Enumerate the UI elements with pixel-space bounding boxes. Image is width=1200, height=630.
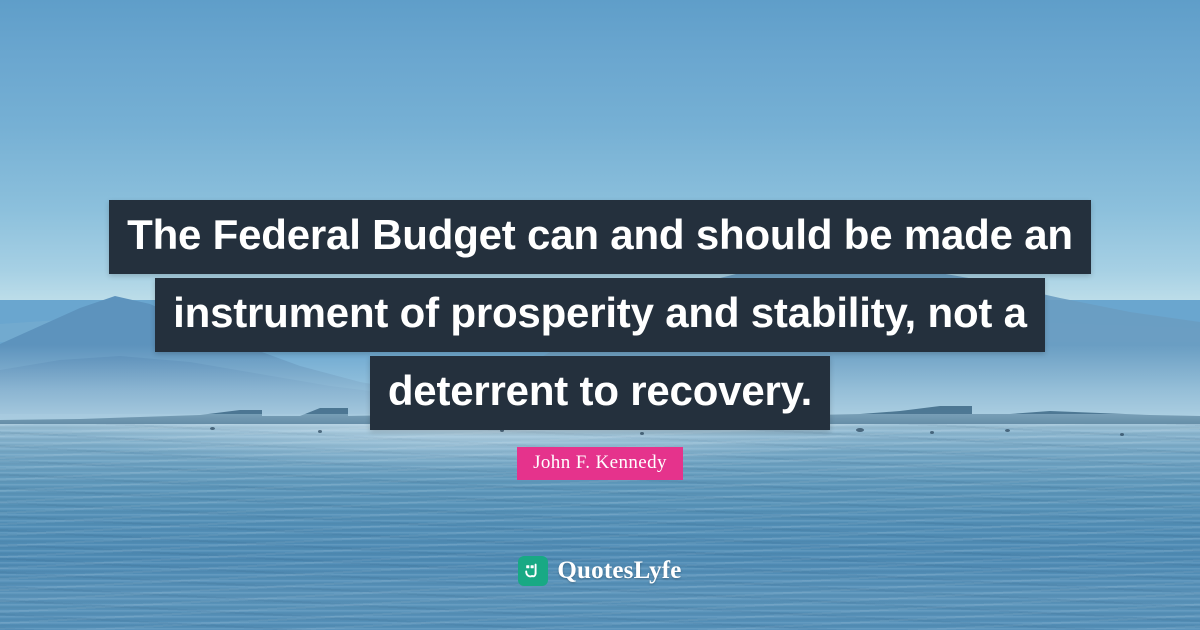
quote-line-2: instrument of prosperity and stability, … <box>155 278 1045 352</box>
author-badge: John F. Kennedy <box>517 447 683 480</box>
quote-smiley-icon <box>518 556 548 586</box>
quote-block: The Federal Budget can and should be mad… <box>0 200 1200 434</box>
branding-block: QuotesLyfe <box>0 556 1200 586</box>
quote-line-3: deterrent to recovery. <box>370 356 830 430</box>
quote-line-1: The Federal Budget can and should be mad… <box>109 200 1091 274</box>
quoteslyfe-logo[interactable]: QuotesLyfe <box>518 556 681 586</box>
quote-line-row: The Federal Budget can and should be mad… <box>0 200 1200 274</box>
quote-line-row: deterrent to recovery. <box>0 356 1200 430</box>
author-block: John F. Kennedy <box>0 447 1200 480</box>
quote-card: The Federal Budget can and should be mad… <box>0 0 1200 630</box>
quote-line-row: instrument of prosperity and stability, … <box>0 278 1200 352</box>
brand-name: QuotesLyfe <box>557 557 681 585</box>
